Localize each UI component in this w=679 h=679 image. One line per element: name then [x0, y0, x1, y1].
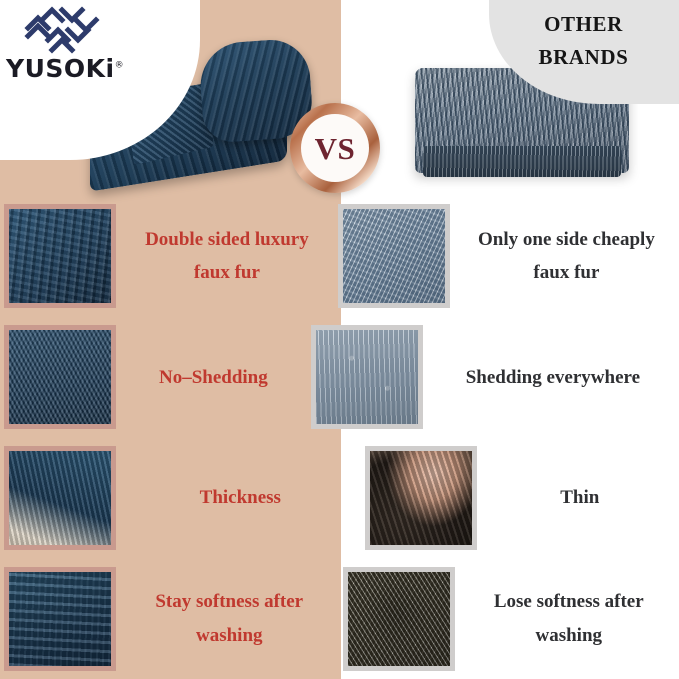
- left-label-cell: Thickness: [120, 481, 361, 514]
- thumbnail-navy-folded-blanket-edge: [4, 446, 116, 550]
- right-label-cell: Lose softness after washing: [459, 585, 679, 652]
- vs-badge-inner: VS: [301, 114, 369, 182]
- comparison-row: Double sided luxury faux fur Only one si…: [0, 196, 679, 317]
- left-label-cell: Stay softness after washing: [120, 585, 339, 652]
- right-thumb-cell: [339, 567, 459, 671]
- thumbnail-image: [9, 209, 111, 303]
- vs-badge: VS: [290, 103, 380, 193]
- left-thumb-cell: [0, 567, 120, 671]
- right-feature-label: Lose softness after washing: [465, 585, 674, 652]
- other-brands-title-line2: BRANDS: [496, 41, 671, 74]
- vs-label: VS: [315, 133, 356, 164]
- left-label-cell: Double sided luxury faux fur: [120, 223, 334, 290]
- thumbnail-image: [343, 209, 445, 303]
- brand-name: YUSOKi: [6, 54, 115, 83]
- thumbnail-navy-herringbone-texture: [4, 325, 116, 429]
- thumbnail-image: [316, 330, 418, 424]
- comparison-rows: Double sided luxury faux fur Only one si…: [0, 196, 679, 679]
- right-thumb-cell: [307, 325, 427, 429]
- thumbnail-image: [9, 330, 111, 424]
- blanket-lip: [423, 146, 621, 177]
- other-brands-title-line1: OTHER: [496, 8, 671, 41]
- comparison-infographic: YUSOKi® OTHER BRANDS VS Double sided lux…: [0, 0, 679, 679]
- diamond-chevron-logo-icon: [8, 6, 116, 54]
- brand-lockup: YUSOKi®: [0, 0, 150, 81]
- left-feature-label: Double sided luxury faux fur: [126, 223, 328, 290]
- left-label-cell: No–Shedding: [120, 361, 307, 394]
- left-thumb-cell: [0, 325, 120, 429]
- registered-trademark-icon: ®: [115, 61, 125, 71]
- right-label-cell: Thin: [481, 481, 679, 514]
- thumbnail-gray-lint-covered-leggings: [311, 325, 423, 429]
- right-label-cell: Shedding everywhere: [427, 361, 679, 394]
- brand-wordmark: YUSOKi®: [6, 56, 150, 81]
- thumbnail-matted-dark-shag-fur: [343, 567, 455, 671]
- right-thumb-cell: [334, 204, 454, 308]
- left-feature-label: Stay softness after washing: [126, 585, 333, 652]
- left-thumb-cell: [0, 204, 120, 308]
- right-label-cell: Only one side cheaply faux fur: [454, 223, 679, 290]
- thumbnail-image: [9, 451, 111, 545]
- left-feature-label: Thickness: [200, 481, 281, 514]
- right-feature-label: Only one side cheaply faux fur: [460, 223, 673, 290]
- comparison-row: No–Shedding Shedding everywhere: [0, 317, 679, 438]
- comparison-row: Thickness Thin: [0, 438, 679, 559]
- right-thumb-cell: [361, 446, 481, 550]
- thumbnail-image: [370, 451, 472, 545]
- thumbnail-navy-ruffled-texture: [4, 567, 116, 671]
- left-feature-label: No–Shedding: [159, 361, 268, 394]
- thumbnail-hand-holding-thin-fabric: [365, 446, 477, 550]
- thumbnail-image: [348, 572, 450, 666]
- thumbnail-navy-cable-knit-texture: [4, 204, 116, 308]
- left-thumb-cell: [0, 446, 120, 550]
- comparison-row: Stay softness after washing Lose softnes…: [0, 558, 679, 679]
- other-brands-title: OTHER BRANDS: [496, 8, 671, 73]
- thumbnail-image: [9, 572, 111, 666]
- right-feature-label: Thin: [560, 481, 599, 514]
- thumbnail-gray-fringed-blanket-stack: [338, 204, 450, 308]
- right-feature-label: Shedding everywhere: [466, 361, 640, 394]
